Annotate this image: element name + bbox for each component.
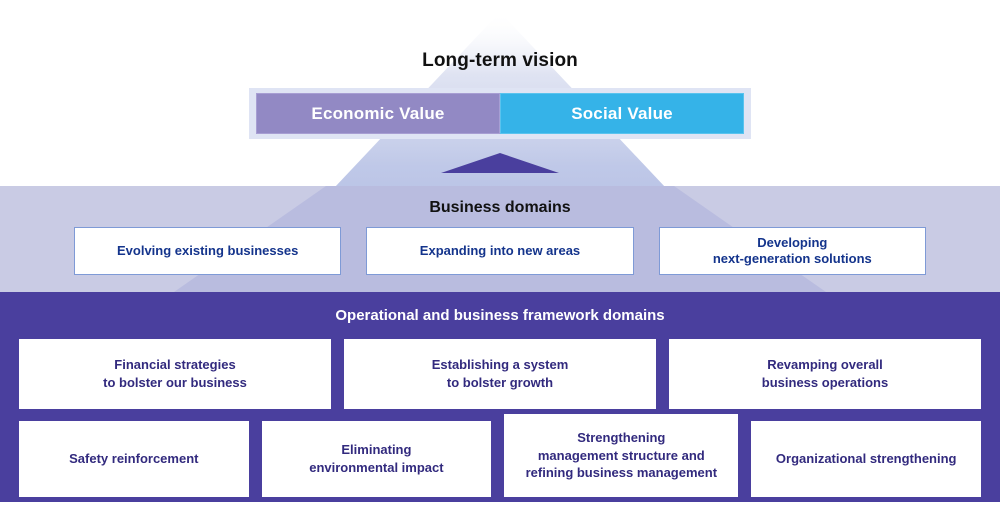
operational-domain-item[interactable]: Eliminatingenvironmental impact [262, 421, 492, 497]
long-term-vision-diagram: Long-term vision Economic Value Social V… [0, 0, 1000, 510]
page-title: Long-term vision [0, 50, 1000, 72]
operational-domain-item[interactable]: Financial strategiesto bolster our busin… [19, 339, 331, 409]
business-domain-item[interactable]: Developingnext-generation solutions [659, 227, 926, 275]
operational-domain-item[interactable]: Safety reinforcement [19, 421, 249, 497]
operational-domain-item[interactable]: Revamping overallbusiness operations [669, 339, 981, 409]
up-arrow-icon [441, 153, 559, 173]
business-domain-item[interactable]: Expanding into new areas [366, 227, 633, 275]
operational-domains-row-two: Safety reinforcement Eliminatingenvironm… [19, 421, 981, 497]
value-bar: Economic Value Social Value [256, 93, 744, 134]
value-chip-social[interactable]: Social Value [500, 93, 744, 134]
operational-domain-item[interactable]: Establishing a systemto bolster growth [344, 339, 656, 409]
operational-domains-row-one: Financial strategiesto bolster our busin… [19, 339, 981, 409]
business-domains-title: Business domains [0, 199, 1000, 217]
operational-domains-title: Operational and business framework domai… [0, 307, 1000, 324]
value-chip-economic[interactable]: Economic Value [256, 93, 500, 134]
operational-domain-item[interactable]: Strengtheningmanagement structure andref… [504, 414, 738, 497]
business-domain-item[interactable]: Evolving existing businesses [74, 227, 341, 275]
operational-domain-item[interactable]: Organizational strengthening [751, 421, 981, 497]
business-domains-list: Evolving existing businesses Expanding i… [74, 227, 926, 275]
